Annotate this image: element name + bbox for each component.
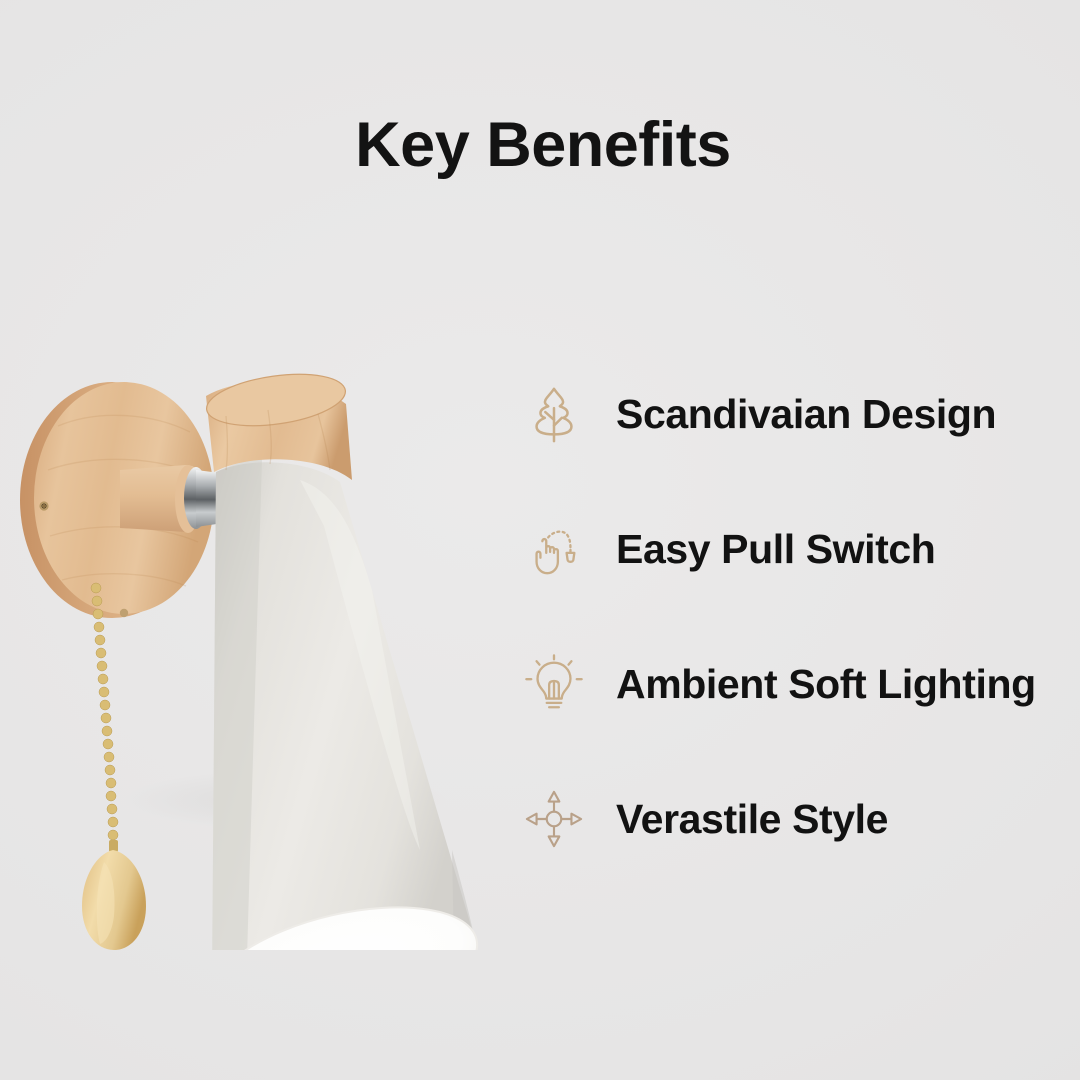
benefit-label: Ambient Soft Lighting (616, 664, 1036, 705)
four-way-arrows-icon (518, 783, 590, 855)
benefit-label: Scandivaian Design (616, 394, 996, 435)
benefit-item-ambient-soft-lighting: Ambient Soft Lighting (518, 638, 1080, 730)
benefit-label: Verastile Style (616, 799, 888, 840)
pull-knob (82, 850, 146, 950)
benefit-item-easy-pull-switch: Easy Pull Switch (518, 503, 1080, 595)
benefit-item-scandinavian-design: Scandivaian Design (518, 368, 1080, 460)
benefits-list: Scandivaian Design Easy Pull Switch (518, 368, 1080, 865)
benefit-label: Easy Pull Switch (616, 529, 935, 570)
infographic-canvas: Key Benefits (0, 0, 1080, 1080)
lamp-shade (212, 459, 474, 950)
bead-pull-chain (91, 583, 118, 852)
benefit-item-versatile-style: Verastile Style (518, 773, 1080, 865)
page-title: Key Benefits (3, 114, 1080, 177)
hand-pull-switch-icon (518, 513, 590, 585)
pine-tree-icon (518, 378, 590, 450)
light-bulb-icon (518, 648, 590, 720)
product-image-wall-sconce-lamp (0, 330, 540, 950)
